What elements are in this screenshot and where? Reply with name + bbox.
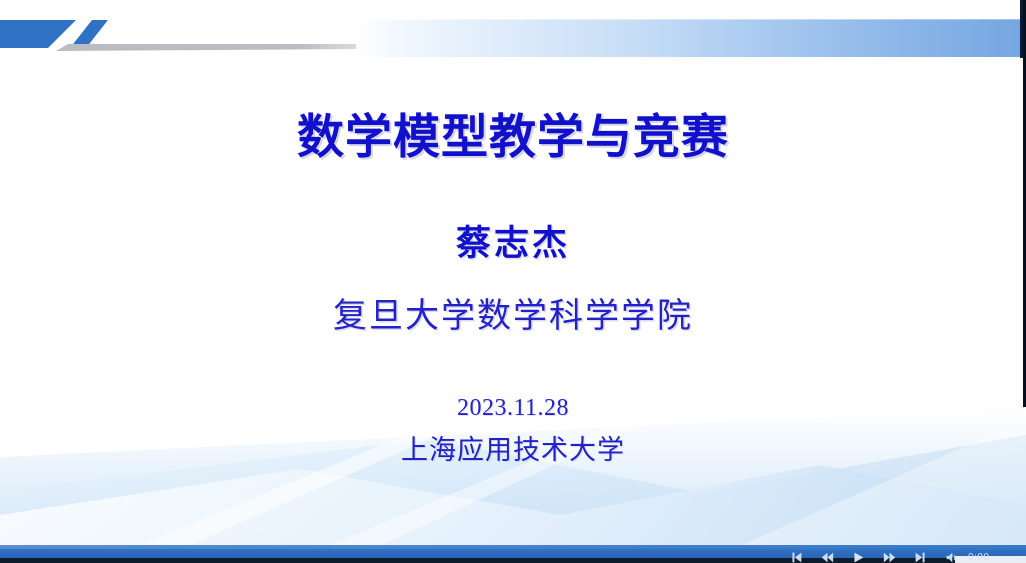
- venue-name: 上海应用技术大学: [0, 428, 1026, 467]
- author-name: 蔡志杰: [0, 215, 1026, 266]
- presentation-date: 2023.11.28: [0, 395, 1026, 422]
- affiliation: 复旦大学数学科学学院: [0, 288, 1026, 337]
- slide-content: 数学模型教学与竞赛 蔡志杰 复旦大学数学科学学院 2023.11.28 上海应用…: [0, 0, 1026, 563]
- presentation-slide: 0:00 数学模型教学与竞赛 蔡志杰 复旦大学数学科学学院 2023.11.28…: [0, 0, 1026, 563]
- slide-title: 数学模型教学与竞赛: [0, 98, 1026, 167]
